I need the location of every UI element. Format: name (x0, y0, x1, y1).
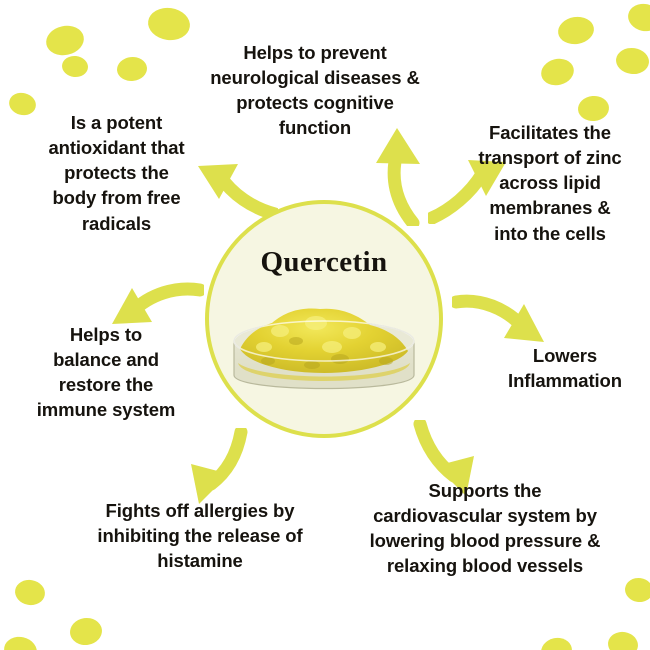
benefit-text-line: histamine (62, 548, 338, 573)
decorative-blob (61, 55, 89, 79)
decorative-blob (13, 578, 47, 608)
benefit-text-line: Facilitates the (455, 120, 645, 145)
benefit-label-bottom-left: Fights off allergies byinhibiting the re… (62, 498, 338, 573)
decorative-blob (626, 1, 650, 34)
decorative-blob (606, 630, 640, 650)
decorative-blob (146, 5, 192, 43)
decorative-blob (556, 14, 596, 46)
quercetin-powder-dish-image (228, 303, 420, 405)
decorative-blob (68, 616, 103, 647)
benefit-text-line: Fights off allergies by (62, 498, 338, 523)
decorative-blob (615, 46, 650, 76)
decorative-blob (43, 22, 86, 58)
benefit-text-line: Lowers (480, 343, 650, 368)
benefit-label-bottom-right: Supports thecardiovascular system bylowe… (345, 478, 625, 579)
decorative-blob (577, 95, 610, 123)
benefit-text-line: neurological diseases & (190, 65, 440, 90)
infographic-canvas: Quercetin (0, 0, 650, 650)
benefit-text-line: Is a potent (14, 110, 219, 135)
benefit-text-line: membranes & (455, 195, 645, 220)
benefit-label-left: Helps tobalance andrestore theimmune sys… (8, 322, 204, 423)
benefit-text-line: balance and (8, 347, 204, 372)
benefit-text-line: Helps to prevent (190, 40, 440, 65)
benefit-label-top: Helps to preventneurological diseases &p… (190, 40, 440, 141)
decorative-blob (623, 576, 650, 604)
page-title: Quercetin (260, 248, 387, 277)
benefit-text-line: transport of zinc (455, 145, 645, 170)
decorative-blob (1, 634, 39, 650)
benefit-text-line: lowering blood pressure & (345, 528, 625, 553)
decorative-blob (538, 55, 576, 88)
benefit-label-top-right: Facilitates thetransport of zincacross l… (455, 120, 645, 246)
benefit-text-line: function (190, 115, 440, 140)
benefit-text-line: body from free (14, 185, 219, 210)
decorative-blob (116, 55, 148, 82)
benefit-text-line: protects the (14, 160, 219, 185)
decorative-blob (539, 635, 575, 650)
benefit-text-line: across lipid (455, 170, 645, 195)
benefit-text-line: restore the (8, 372, 204, 397)
benefit-text-line: Supports the (345, 478, 625, 503)
benefit-text-line: inhibiting the release of (62, 523, 338, 548)
benefit-text-line: relaxing blood vessels (345, 553, 625, 578)
benefit-text-line: immune system (8, 397, 204, 422)
benefit-text-line: Inflammation (480, 368, 650, 393)
benefit-text-line: protects cognitive (190, 90, 440, 115)
benefit-label-right: LowersInflammation (480, 343, 650, 393)
benefit-text-line: cardiovascular system by (345, 503, 625, 528)
benefit-text-line: radicals (14, 211, 219, 236)
benefit-text-line: antioxidant that (14, 135, 219, 160)
benefit-text-line: into the cells (455, 221, 645, 246)
benefit-text-line: Helps to (8, 322, 204, 347)
benefit-label-top-left: Is a potentantioxidant thatprotects theb… (14, 110, 219, 236)
